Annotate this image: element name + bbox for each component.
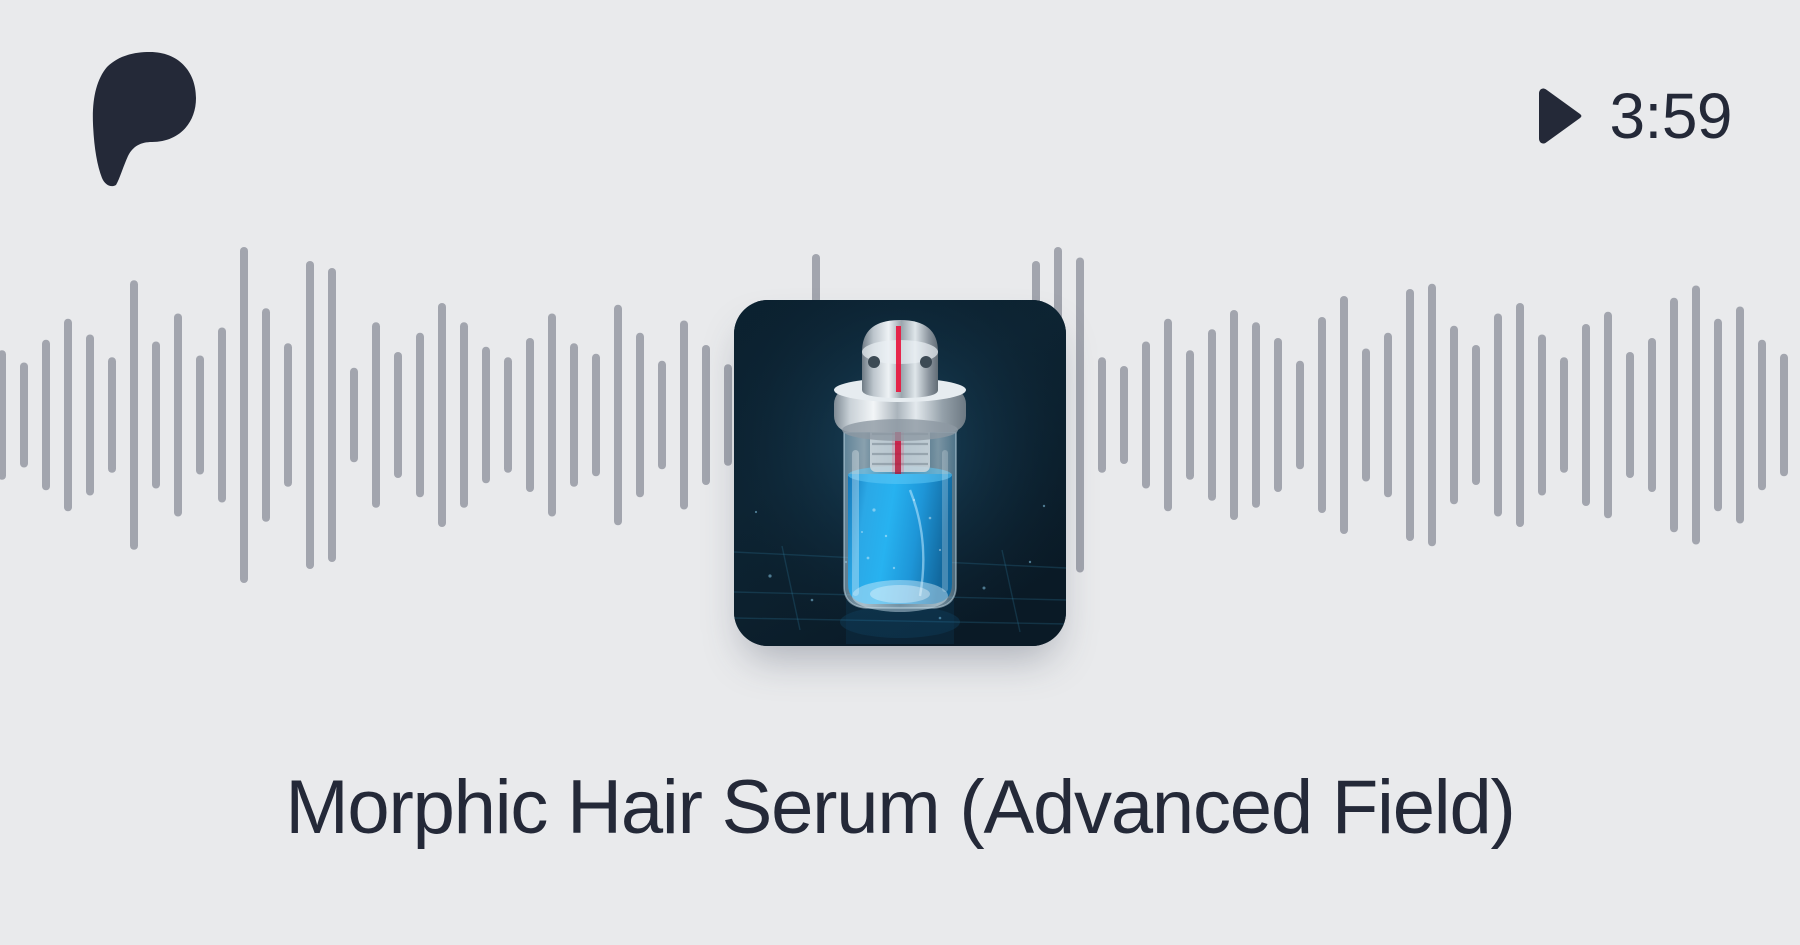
waveform-bar [438,303,446,527]
waveform-bar [1450,326,1458,505]
waveform-bar [306,261,314,569]
audio-player: 3:59 [0,0,1800,945]
waveform-bar [350,368,358,463]
waveform-bar [1428,284,1436,547]
waveform-bar [504,357,512,473]
waveform-bar [526,338,534,492]
waveform-bar [284,343,292,487]
waveform-bar [1472,345,1480,485]
waveform-bar [108,357,116,473]
waveform-bar [1362,349,1370,482]
waveform-bar [416,333,424,498]
waveform-bar [592,354,600,477]
waveform-bar [1494,314,1502,517]
waveform-bar [196,356,204,475]
waveform-bar [1318,317,1326,513]
waveform-bar [1164,319,1172,512]
waveform-bar [1384,333,1392,498]
waveform-bar [1098,357,1106,473]
waveform-bar [372,322,380,508]
waveform-bar [1230,310,1238,520]
waveform-bar [614,305,622,526]
waveform-bar [548,314,556,517]
waveform-bar [1076,258,1084,573]
waveform-bar [1626,352,1634,478]
waveform-bar [1648,338,1656,492]
waveform-bar [1736,307,1744,524]
waveform-bar [1296,361,1304,470]
waveform-bar [460,322,468,508]
waveform-bar [64,319,72,512]
waveform-bar [1274,338,1282,492]
waveform-bar [724,364,732,466]
waveform-bar [636,333,644,498]
waveform-bar [1142,342,1150,489]
waveform-bar [1208,329,1216,501]
waveform-bar [0,350,6,480]
waveform-bar [218,328,226,503]
waveform-bar [174,314,182,517]
waveform-bar [1120,366,1128,464]
waveform-bar [1560,357,1568,473]
waveform-bar [680,321,688,510]
waveform-bar [1670,298,1678,533]
waveform-bar [1780,354,1788,477]
waveform-bar [570,343,578,487]
waveform-bar [1340,296,1348,534]
waveform-bar [1252,322,1260,508]
waveform-bar [1538,335,1546,496]
waveform-bar [240,247,248,583]
waveform-bar [1516,303,1524,527]
waveform-bar [130,280,138,550]
waveform-bar [262,308,270,522]
waveform-bar [658,361,666,470]
waveform-bar [482,347,490,484]
waveform-bar [20,363,28,468]
waveform-bar [394,352,402,478]
waveform-bar [86,335,94,496]
waveform-bar [328,268,336,562]
waveform-bar [1604,312,1612,519]
waveform-bar [152,342,160,489]
artwork-thumbnail[interactable] [734,300,1066,646]
waveform-bar [1582,324,1590,506]
waveform-bar [702,345,710,485]
track-title: Morphic Hair Serum (Advanced Field) [0,768,1800,848]
waveform-bar [42,340,50,491]
waveform-bar [1714,319,1722,512]
waveform-bar [1692,286,1700,545]
waveform-bar [1406,289,1414,541]
waveform-bar [1186,350,1194,480]
waveform-bar [1758,340,1766,491]
